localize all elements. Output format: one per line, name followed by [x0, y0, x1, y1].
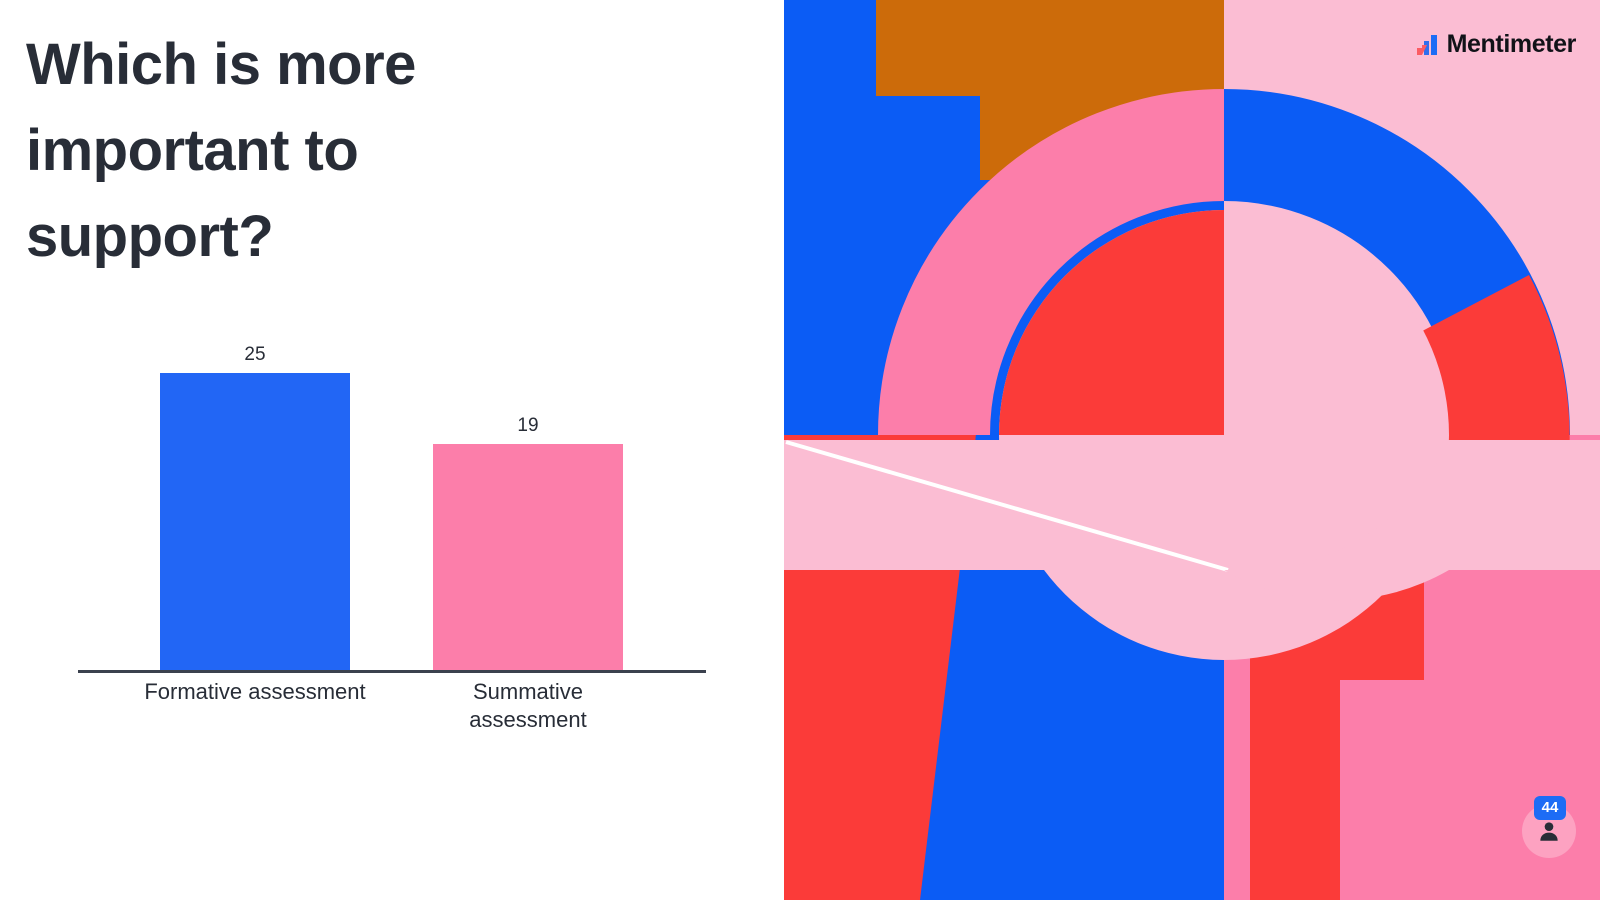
bar-summative-assessment[interactable] [433, 444, 623, 670]
bar-column: 25 [160, 344, 350, 670]
person-icon [1536, 818, 1562, 844]
presentation-slide: Which is more important to support? 25 1… [0, 0, 1600, 900]
participant-counter[interactable]: 44 [1522, 796, 1584, 858]
chart-axis-line [78, 670, 706, 673]
chart-plot-area: 25 19 [78, 330, 706, 670]
bar-chart: 25 19 Formative assessment Summative ass… [78, 330, 718, 730]
participant-count-badge: 44 [1534, 796, 1566, 820]
bar-category-label-summative: Summative assessment [413, 678, 643, 734]
page-title: Which is more important to support? [26, 22, 586, 280]
bar-value-label: 19 [517, 415, 538, 437]
results-pane: Which is more important to support? 25 1… [0, 0, 784, 900]
logo-wordmark: Mentimeter [1447, 30, 1576, 59]
bar-value-label: 25 [244, 344, 265, 366]
bar-chart-icon [1416, 33, 1440, 57]
mentimeter-logo[interactable]: Mentimeter [1416, 30, 1576, 59]
bar-category-label-formative: Formative assessment [140, 678, 370, 706]
decorative-pattern-graphic [784, 0, 1600, 900]
decorative-artwork-panel: Mentimeter 44 [784, 0, 1600, 900]
bar-column: 19 [433, 415, 623, 670]
bar-group-formative: 25 [160, 330, 350, 670]
bar-formative-assessment[interactable] [160, 373, 350, 670]
art-horizontal-band [784, 440, 1600, 570]
bar-group-summative: 19 [433, 330, 623, 670]
